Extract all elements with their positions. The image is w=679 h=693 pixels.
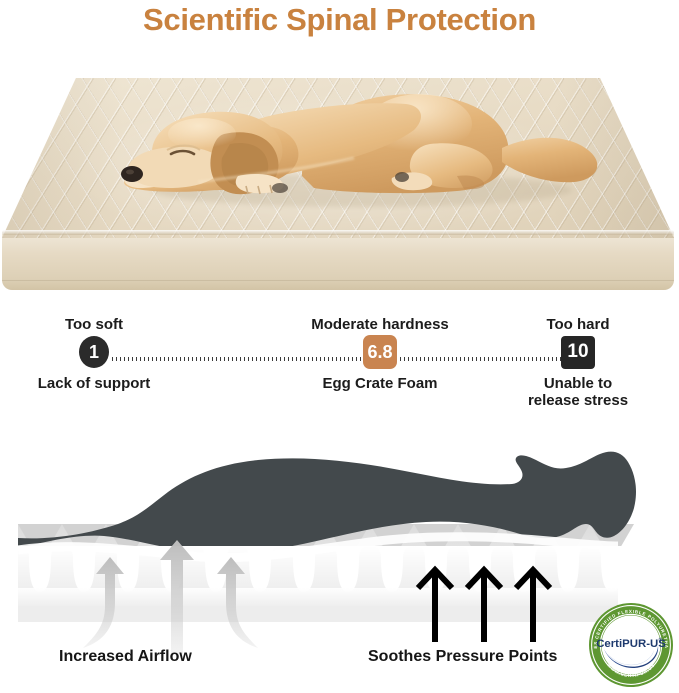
caption-soothes-pressure-points: Soothes Pressure Points [368,648,557,666]
pressure-arrows [418,570,550,642]
scale-node-bottom-label-line1: Unable to [485,375,671,392]
caption-increased-airflow: Increased Airflow [59,648,192,666]
page-title: Scientific Spinal Protection [0,2,679,38]
mattress-side-panel [2,234,674,290]
seal-registered-mark: ® [659,637,663,644]
labrador-dog-photo [2,78,674,238]
seal-brand-text: CertiPUR-US [596,638,666,650]
firmness-scale: Too soft 1 Lack of support Moderate hard… [0,300,679,418]
scale-node-bottom-label: Lack of support [8,375,180,392]
product-infographic-page: Scientific Spinal Protection [0,0,679,693]
hero-product-photo [0,52,679,290]
scale-value-badge-10: 10 [561,336,595,369]
scale-node-top-label: Too hard [485,316,671,334]
scale-node-moderate: Moderate hardness 6.8 Egg Crate Foam [262,316,498,392]
scale-node-too-soft: Too soft 1 Lack of support [8,316,180,392]
scale-node-bottom-label-line2: release stress [485,392,671,409]
dog-bed-mattress [2,78,674,290]
scale-node-too-hard: Too hard 10 Unable to release stress [485,316,671,409]
scale-node-top-label: Moderate hardness [262,316,498,334]
scale-node-top-label: Too soft [8,316,180,334]
certipur-us-certification-seal: COMPANIES CERTIFIED FLEXIBLE POLYURETHAN… [588,602,674,688]
scale-node-bottom-label: Egg Crate Foam [262,375,498,392]
scale-value-badge-68: 6.8 [363,335,397,369]
scale-value-badge-1: 1 [79,336,109,368]
